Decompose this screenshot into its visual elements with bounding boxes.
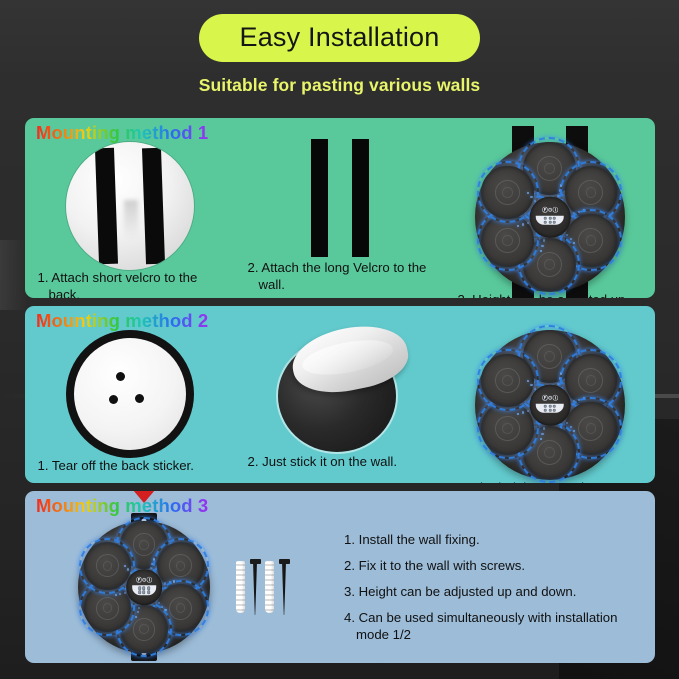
surface-texture	[124, 200, 138, 240]
step-1-2: 2. Attach the long Velcro to the wall.	[235, 142, 445, 292]
control-button-dot	[142, 587, 145, 590]
wall-anchor-icon	[265, 561, 274, 613]
screw-icon	[281, 559, 287, 615]
header: Easy Installation Suitable for pasting v…	[0, 0, 679, 118]
boxing-trainer-device: Ⓕ☉Ⓘ	[78, 521, 210, 653]
section-mounting-method-2: Mounting method 2 1. Tear off the back s…	[25, 306, 655, 483]
mounting-hardware	[236, 557, 287, 617]
led-spark	[541, 433, 543, 435]
step-caption: 2. Just stick it on the wall.	[248, 454, 433, 477]
long-velcro-strips	[235, 142, 445, 260]
led-spark	[127, 568, 129, 570]
control-button-dot	[544, 221, 547, 224]
screw-hole	[109, 395, 118, 404]
step-caption: 2. Attach the long Velcro to the wall.	[248, 260, 433, 298]
led-spark	[124, 565, 126, 567]
led-spark	[522, 411, 524, 413]
list-item: 3. Height can be adjusted up and down.	[344, 583, 639, 600]
instruction-list: 1. Install the wall fixing. 2. Fix it to…	[344, 531, 639, 644]
step-caption: 1. Tear off the back sticker.	[38, 458, 223, 481]
led-spark	[543, 427, 545, 429]
control-button-dot	[138, 587, 141, 590]
control-buttons	[536, 215, 564, 225]
led-spark	[124, 592, 126, 594]
list-item: 2. Fix it to the wall with screws.	[344, 557, 639, 574]
led-spark	[522, 223, 524, 225]
device-control-badge: Ⓕ☉Ⓘ	[530, 385, 571, 426]
control-button-dot	[548, 217, 551, 220]
stick-on-wall-image	[274, 332, 406, 452]
led-spark	[540, 250, 542, 252]
brand-logo-icon: Ⓕ☉Ⓘ	[542, 209, 558, 215]
step-2-1: 1. Tear off the back sticker.	[25, 330, 235, 477]
screw-hole	[116, 372, 125, 381]
section-1-title: Mounting method 1	[36, 122, 208, 144]
velcro-back-photo	[25, 142, 235, 270]
button-row	[544, 221, 556, 224]
button-row	[544, 405, 556, 408]
boxing-trainer-device: Ⓕ☉Ⓘ	[475, 142, 625, 292]
velcro-strip	[352, 139, 369, 257]
control-button-dot	[553, 409, 556, 412]
sticker-disc-image	[66, 330, 194, 458]
step-2-2: 2. Just stick it on the wall.	[235, 330, 445, 477]
step-1-3: Ⓕ☉Ⓘ 3. Height can be adjusted up and dow…	[445, 142, 655, 292]
page-subtitle: Suitable for pasting various walls	[199, 75, 481, 96]
led-spark	[541, 245, 543, 247]
control-button-dot	[553, 217, 556, 220]
screw-icon	[252, 559, 258, 615]
control-button-dot	[553, 221, 556, 224]
brand-logo-icon: Ⓕ☉Ⓘ	[542, 397, 558, 403]
section-mounting-method-1: Mounting method 1 1. Attach short velcro…	[25, 118, 655, 298]
device-control-badge: Ⓕ☉Ⓘ	[126, 569, 162, 605]
button-row	[544, 217, 556, 220]
section-3-title: Mounting method 3	[36, 495, 208, 517]
device-body: Ⓕ☉Ⓘ	[78, 521, 210, 653]
section-3-content: Ⓕ☉Ⓘ	[25, 517, 655, 657]
boxing-trainer-device-photo: Ⓕ☉Ⓘ	[445, 142, 655, 292]
list-item: 1. Install the wall fixing.	[344, 531, 639, 548]
control-button-dot	[544, 409, 547, 412]
control-button-dot	[548, 221, 551, 224]
control-button-dot	[553, 405, 556, 408]
led-spark	[530, 196, 532, 198]
device-control-badge: Ⓕ☉Ⓘ	[530, 197, 571, 238]
brand-logo-icon: Ⓕ☉Ⓘ	[136, 579, 152, 585]
page-title: Easy Installation	[199, 14, 479, 62]
control-button-dot	[147, 591, 150, 594]
button-row	[138, 591, 150, 594]
boxing-trainer-device-photo: Ⓕ☉Ⓘ	[445, 330, 655, 480]
control-button-dot	[142, 591, 145, 594]
control-buttons	[132, 585, 156, 595]
led-spark	[517, 225, 519, 227]
screw-hole	[135, 394, 144, 403]
led-spark	[517, 413, 519, 415]
list-item: 4. Can be used simultaneously with insta…	[344, 609, 639, 643]
wall-anchor-icon	[236, 561, 245, 613]
control-buttons	[536, 403, 564, 413]
section-3-instructions: 1. Install the wall fixing. 2. Fix it to…	[340, 531, 655, 644]
control-button-dot	[548, 409, 551, 412]
led-spark	[138, 607, 140, 609]
control-button-dot	[544, 217, 547, 220]
velcro-strip-pair	[311, 139, 369, 257]
led-spark	[540, 438, 542, 440]
velcro-strip	[311, 139, 328, 257]
backdrop-left-edge	[0, 240, 26, 310]
device-with-arrows: Ⓕ☉Ⓘ	[78, 521, 210, 653]
screw-head	[250, 559, 261, 564]
velcro-circle-image	[66, 142, 194, 270]
button-row	[138, 587, 150, 590]
screw-shaft	[282, 564, 286, 615]
section-3-art: Ⓕ☉Ⓘ	[25, 521, 340, 653]
step-2-3: Ⓕ☉Ⓘ 3. The height cannot be adjusted.	[445, 330, 655, 477]
infographic-page: Easy Installation Suitable for pasting v…	[0, 0, 679, 679]
device-body: Ⓕ☉Ⓘ	[475, 330, 625, 480]
velcro-strip	[95, 148, 118, 265]
led-spark	[530, 384, 532, 386]
led-spark	[115, 594, 117, 596]
step-caption: 1. Attach short velcro to the back.	[38, 270, 223, 298]
section-2-steps: 1. Tear off the back sticker. 2. Just st…	[25, 330, 655, 477]
screw-shaft	[253, 564, 257, 615]
adhesive-sticker-disc	[25, 330, 235, 458]
section-2-title: Mounting method 2	[36, 310, 208, 332]
device-body: Ⓕ☉Ⓘ	[475, 142, 625, 292]
press-disc-on-wall	[235, 330, 445, 454]
boxing-trainer-device: Ⓕ☉Ⓘ	[475, 330, 625, 480]
sticker-face	[74, 338, 186, 450]
velcro-strip	[142, 148, 165, 265]
control-button-dot	[147, 587, 150, 590]
screw-head	[279, 559, 290, 564]
led-spark	[543, 239, 545, 241]
section-mounting-method-3: Mounting method 3 Ⓕ☉Ⓘ	[25, 491, 655, 663]
section-1-steps: 1. Attach short velcro to the back. 2. A…	[25, 142, 655, 292]
control-button-dot	[138, 591, 141, 594]
step-1-1: 1. Attach short velcro to the back.	[25, 142, 235, 292]
control-button-dot	[544, 405, 547, 408]
button-row	[544, 409, 556, 412]
control-button-dot	[548, 405, 551, 408]
